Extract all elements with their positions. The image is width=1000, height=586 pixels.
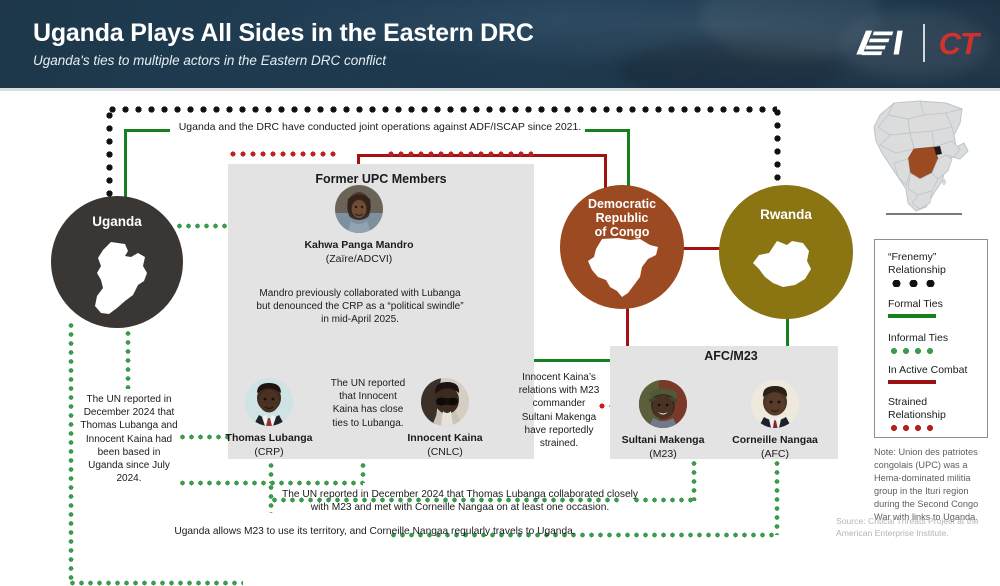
legend-box: “Frenemy” Relationship Formal Ties Infor… [874,239,988,438]
infographic-root: Uganda Plays All Sides in the Eastern DR… [0,0,1000,563]
rwanda-map-icon [747,239,825,297]
legend-label-informal: Informal Ties [888,332,978,345]
panel-title-former-upc: Former UPC Members [248,171,514,188]
mandro-avatar [335,185,383,233]
informal-line-uganda-down-text [125,329,131,389]
annotation-lubanga-m23: The UN reported in December 2024 that Th… [280,488,640,515]
legend-swatch-combat [888,380,936,384]
legend-swatch-frenemy [888,280,936,287]
africa-map-icon [868,97,986,219]
page-title: Uganda Plays All Sides in the Eastern DR… [33,19,534,48]
informal-line-nangaa-down [774,459,780,535]
source-credit: Source: Critical Threats Project at the … [836,515,986,540]
logo-group: CT [853,20,978,66]
annotation-kaina-makenga: Innocent Kaina’s relations with M23 comm… [516,371,602,450]
node-uganda-label: Uganda [92,214,142,229]
lubanga-avatar [245,378,293,426]
legend-swatch-formal [888,314,936,318]
lubanga-affiliation: (CRP) [200,446,338,458]
node-drc[interactable]: Democratic Republic of Congo [560,185,684,309]
annotation-mandro-note: Mandro previously collaborated with Luba… [254,287,466,327]
page-subtitle: Uganda's ties to multiple actors in the … [33,53,386,68]
annotation-uganda-m23: Uganda allows M23 to use its territory, … [160,525,590,538]
node-rwanda[interactable]: Rwanda [719,185,853,319]
node-uganda[interactable]: Uganda [51,196,183,328]
informal-line-makenga-down [691,459,697,501]
legend-item-formal: Formal Ties [888,298,978,318]
node-rwanda-label: Rwanda [760,207,812,222]
kaina-photo [421,378,469,426]
legend-label-frenemy: “Frenemy” Relationship [888,251,978,277]
legend-swatch-strained [888,425,936,431]
informal-line-text-to-kaina [178,480,281,486]
node-drc-label: Democratic Republic of Congo [588,197,656,239]
mandro-photo [335,185,383,233]
formal-line-jointops-right [585,129,630,132]
legend-item-informal: Informal Ties [888,332,978,354]
page-header: Uganda Plays All Sides in the Eastern DR… [0,0,1000,88]
lubanga-photo [245,378,293,426]
annotation-un-december-2024: The UN reported in December 2024 that Th… [80,393,178,485]
legend-label-strained: Strained Relationship [888,396,978,422]
makenga-avatar [639,380,687,428]
legend-item-strained: Strained Relationship [888,396,978,431]
makenga-photo [639,380,687,428]
annotation-kaina-lubanga: The UN reported that Innocent Kaina has … [325,377,411,430]
legend-swatch-informal [888,348,936,354]
frenemy-line-top-horizontal [106,106,777,113]
legend-label-combat: In Active Combat [888,364,984,377]
strained-line-mandro-horizontal-left [228,151,338,157]
legend-label-formal: Formal Ties [888,298,978,311]
ct-logo: CT [939,28,978,59]
formal-line-jointops-left [124,129,170,132]
informal-line-bottom-left [68,580,243,586]
legend-item-combat: In Active Combat [888,364,984,384]
africa-inset-map [868,97,986,219]
aei-logo-icon [853,28,909,58]
footnote-upc: Note: Union des patriotes congolais (UPC… [874,446,988,524]
legend-item-frenemy: “Frenemy” Relationship [888,251,978,287]
informal-line-lubanga-m23-right [632,497,694,503]
kaina-avatar [421,378,469,426]
aei-logo [853,28,909,58]
informal-line-kaina-down [360,461,366,483]
mandro-affiliation: (Zaïre/ADCVI) [275,253,443,265]
mandro-name: Kahwa Panga Mandro [275,239,443,251]
diagram-canvas: Uganda and the DRC have conducted joint … [0,91,1000,563]
lubanga-name: Thomas Lubanga [200,432,338,444]
annotation-joint-operations: Uganda and the DRC have conducted joint … [178,121,582,135]
node-drc-label-line2: Republic [588,211,656,225]
informal-line-uganda-to-upc [175,223,230,229]
nangaa-name: Corneille Nangaa [709,434,841,446]
informal-line-uganda-left-down [68,321,74,583]
kaina-affiliation: (CNLC) [379,446,511,458]
strained-line-mandro-horizontal-right [386,151,533,157]
nangaa-avatar [751,380,799,428]
nangaa-photo [751,380,799,428]
drc-map-icon [584,237,662,299]
logo-divider [923,24,925,62]
uganda-map-icon [81,240,161,318]
kaina-name: Innocent Kaina [379,432,511,444]
panel-title-afc-m23: AFC/M23 [694,348,768,365]
inset-rule [886,213,962,215]
nangaa-affiliation: (AFC) [709,448,841,460]
node-drc-label-line1: Democratic [588,197,656,211]
informal-line-kaina-row [268,480,363,486]
